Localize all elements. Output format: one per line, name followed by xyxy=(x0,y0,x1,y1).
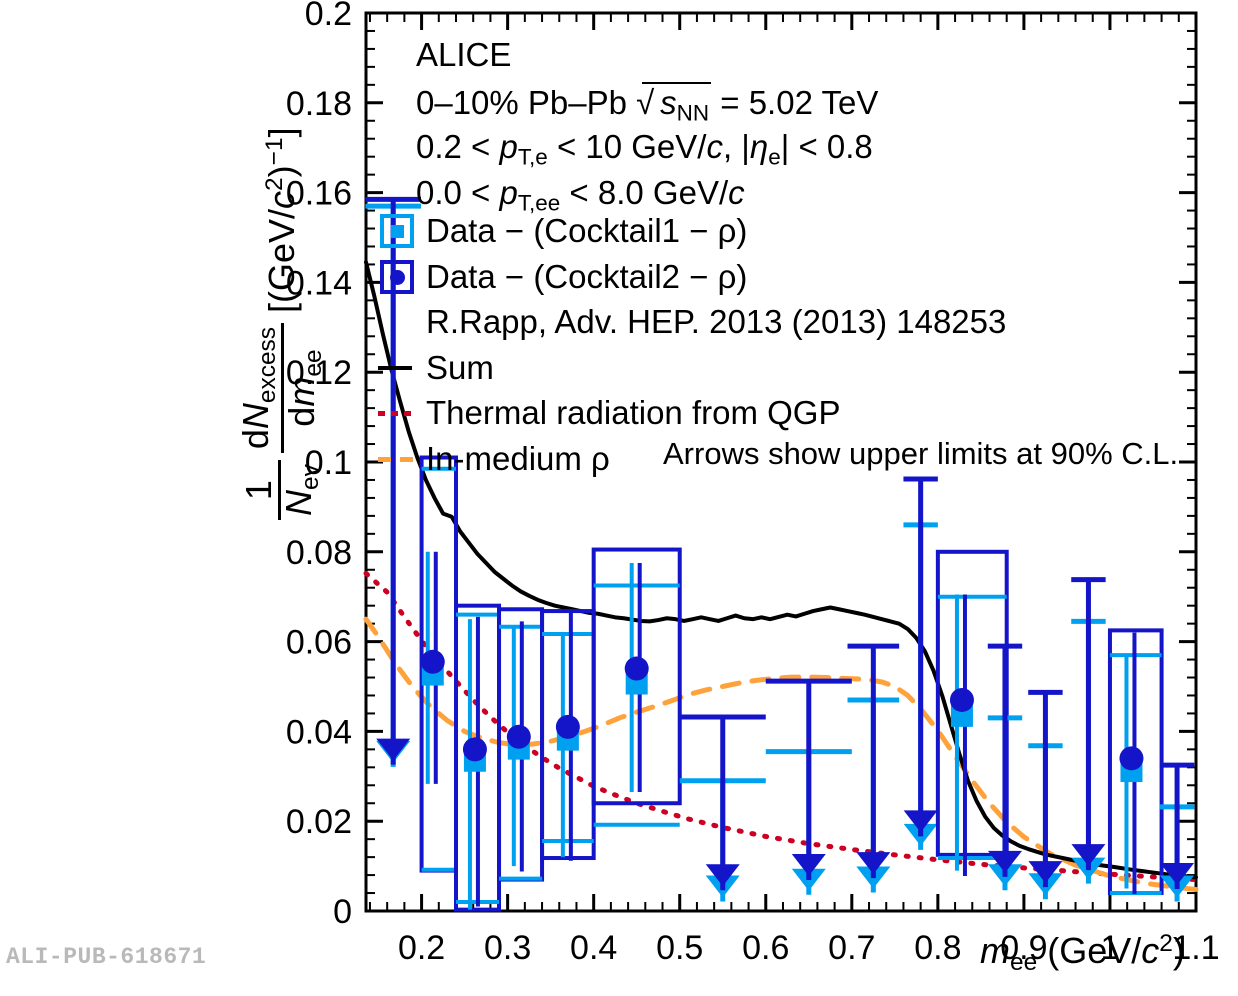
curve-in-medium-rho xyxy=(366,619,1196,889)
figure-root: 0.20.30.40.50.60.70.80.911.100.020.040.0… xyxy=(0,0,1238,996)
annotation-arrows-note: Arrows show upper limits at 90% C.L. xyxy=(663,436,1178,472)
legend-item-label: R.Rapp, Adv. HEP. 2013 (2013) 148253 xyxy=(426,303,1006,341)
x-axis-label: mee (GeV/c2) xyxy=(980,930,1185,977)
legend-item-label: Sum xyxy=(426,349,494,387)
legend-item-label: In-medium ρ xyxy=(426,440,610,478)
y-tick-label: 0.18 xyxy=(286,85,352,123)
x-tick-label: 0.8 xyxy=(914,929,961,967)
y-axis-label: 1NevdNexcessdmee [(GeV/c2)−1] xyxy=(238,127,327,520)
legend-marker-square-icon xyxy=(376,214,420,248)
annotation-experiment: ALICE xyxy=(416,36,511,74)
publication-watermark: ALI-PUB-618671 xyxy=(6,944,206,970)
x-tick-label: 0.6 xyxy=(742,929,789,967)
marker-cocktail2 xyxy=(950,688,974,712)
y-tick-label: 0.04 xyxy=(286,713,352,751)
annotation-kinematics-single: 0.2 < pT,e < 10 GeV/c, |ηe| < 0.8 xyxy=(416,128,873,170)
legend-marker-dotted-line-icon xyxy=(376,396,420,430)
legend-marker-solid-line-icon xyxy=(376,351,420,385)
legend-item[interactable]: Data − (Cocktail1 − ρ) xyxy=(376,212,747,250)
legend-item-label: Thermal radiation from QGP xyxy=(426,394,840,432)
legend-item[interactable]: R.Rapp, Adv. HEP. 2013 (2013) 148253 xyxy=(376,303,1006,341)
legend-item[interactable]: Thermal radiation from QGP xyxy=(376,394,840,432)
legend-item-label: Data − (Cocktail2 − ρ) xyxy=(426,258,747,296)
x-tick-label: 0.7 xyxy=(828,929,875,967)
legend-item[interactable]: Data − (Cocktail2 − ρ) xyxy=(376,258,747,296)
legend-item[interactable]: Sum xyxy=(376,349,494,387)
annotation-kinematics-pair: 0.0 < pT,ee < 8.0 GeV/c xyxy=(416,174,745,216)
legend-marker-none xyxy=(376,305,420,339)
y-tick-label: 0.2 xyxy=(305,0,352,33)
limit-arrowhead-cocktail2 xyxy=(376,739,410,761)
y-tick-label: 0.06 xyxy=(286,624,352,662)
x-tick-label: 0.3 xyxy=(484,929,531,967)
legend-marker-circle-icon xyxy=(376,260,420,294)
y-tick-label: 0.08 xyxy=(286,534,352,572)
marker-cocktail2 xyxy=(625,657,649,681)
legend-marker-dashed-line-icon xyxy=(376,442,420,476)
legend-item[interactable]: In-medium ρ xyxy=(376,440,610,478)
marker-cocktail2 xyxy=(556,715,580,739)
limit-arrowhead-cocktail2 xyxy=(706,864,740,886)
x-tick-label: 0.5 xyxy=(656,929,703,967)
marker-cocktail2 xyxy=(507,725,531,749)
y-tick-label: 0 xyxy=(333,893,352,931)
marker-cocktail2 xyxy=(1119,746,1143,770)
marker-cocktail2 xyxy=(421,650,445,674)
marker-cocktail2 xyxy=(463,737,487,761)
y-tick-label: 0.02 xyxy=(286,803,352,841)
x-tick-label: 0.2 xyxy=(398,929,445,967)
annotation-collision-system: 0–10% Pb–Pb √sNN = 5.02 TeV xyxy=(416,82,878,126)
legend-item-label: Data − (Cocktail1 − ρ) xyxy=(426,212,747,250)
x-tick-label: 0.4 xyxy=(570,929,617,967)
